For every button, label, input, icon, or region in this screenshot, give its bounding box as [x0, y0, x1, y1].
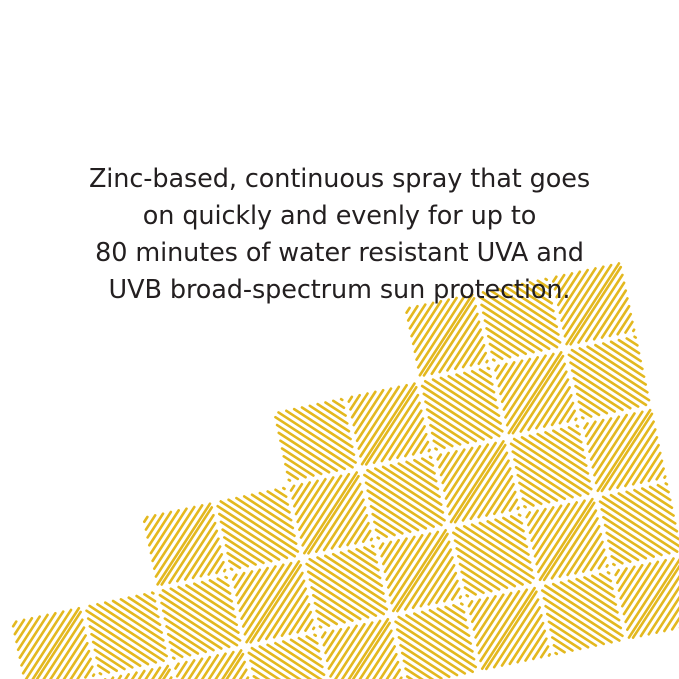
hatch-tile — [275, 399, 357, 481]
description-line-2: on quickly and evenly for up to — [0, 198, 679, 235]
hatch-tile — [143, 504, 225, 586]
hatch-tile — [12, 608, 94, 679]
hatch-tile — [526, 499, 608, 581]
description-line-1: Zinc-based, continuous spray that goes — [0, 161, 679, 198]
hatch-tile — [175, 650, 257, 679]
hatch-tile — [306, 546, 388, 628]
hatch-tile — [541, 572, 623, 654]
hatch-tile — [584, 410, 666, 492]
hatch-tile — [468, 588, 550, 670]
hatch-tile — [217, 488, 299, 570]
description-line-3: 80 minutes of water resistant UVA and — [0, 235, 679, 272]
hatch-tile — [321, 619, 403, 679]
hatch-tile — [437, 441, 519, 523]
description-line-4: UVB broad-spectrum sun protection. — [0, 272, 679, 309]
hatch-tile — [290, 472, 372, 554]
hatch-tile-group — [0, 263, 679, 679]
hatch-tile — [510, 426, 592, 508]
hatch-tile — [453, 514, 535, 596]
hatch-tile — [159, 577, 241, 659]
product-description-text: Zinc-based, continuous spray that goes o… — [0, 161, 679, 309]
hatch-tile — [379, 530, 461, 612]
product-description-card: Zinc-based, continuous spray that goes o… — [0, 0, 679, 679]
hatch-tile — [364, 457, 446, 539]
hatch-tile — [568, 337, 650, 419]
hatch-tile — [615, 557, 679, 639]
basketweave-hatch-decoration — [0, 0, 679, 679]
hatch-tile — [395, 603, 477, 679]
hatch-tile — [101, 666, 183, 679]
hatch-tile — [599, 483, 679, 565]
hatch-tile — [348, 383, 430, 465]
hatch-tile — [232, 561, 314, 643]
hatch-tile — [248, 635, 330, 679]
hatch-tile — [495, 352, 577, 434]
hatch-tile — [421, 368, 503, 450]
hatch-tile — [86, 592, 168, 674]
